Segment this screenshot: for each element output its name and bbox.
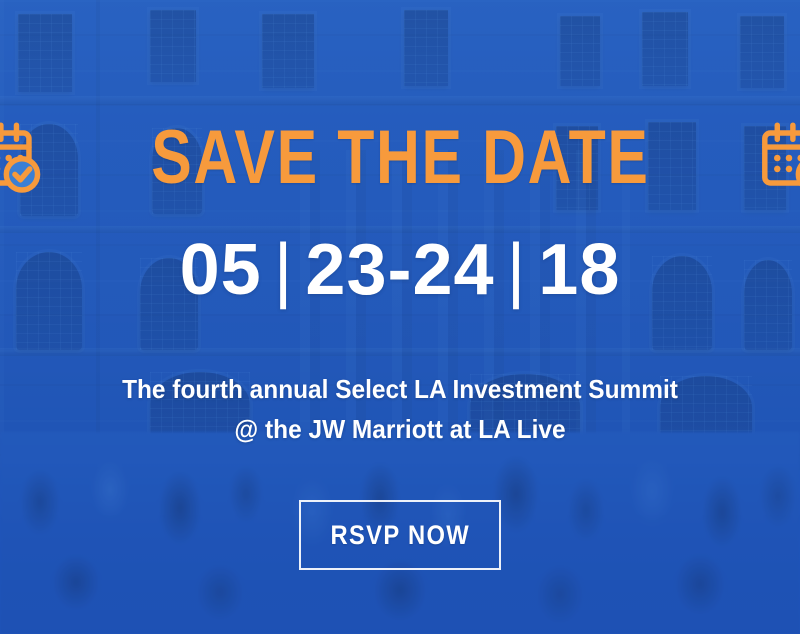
event-days: 23-24 xyxy=(305,230,494,310)
event-description-line-1: The fourth annual Select LA Investment S… xyxy=(52,370,748,410)
page-title: SAVE THE DATE xyxy=(151,120,649,196)
event-year: 18 xyxy=(538,230,620,310)
banner-content: SAVE THE DATE xyxy=(0,0,800,634)
cta-row: RSVP NOW xyxy=(0,500,800,570)
calendar-check-icon-right xyxy=(757,119,800,197)
event-month: 05 xyxy=(180,230,262,310)
event-date: 05|23-24|18 xyxy=(0,234,800,306)
rsvp-now-button-label: RSVP NOW xyxy=(330,502,470,568)
date-separator-1: | xyxy=(262,230,306,310)
save-the-date-banner: SAVE THE DATE xyxy=(0,0,800,634)
rsvp-now-button[interactable]: RSVP NOW xyxy=(299,500,501,570)
event-description-line-2: @ the JW Marriott at LA Live xyxy=(52,410,748,450)
event-description: The fourth annual Select LA Investment S… xyxy=(30,370,770,449)
date-separator-2: | xyxy=(495,230,539,310)
headline-row: SAVE THE DATE xyxy=(0,106,800,210)
calendar-check-icon-left xyxy=(0,119,43,197)
